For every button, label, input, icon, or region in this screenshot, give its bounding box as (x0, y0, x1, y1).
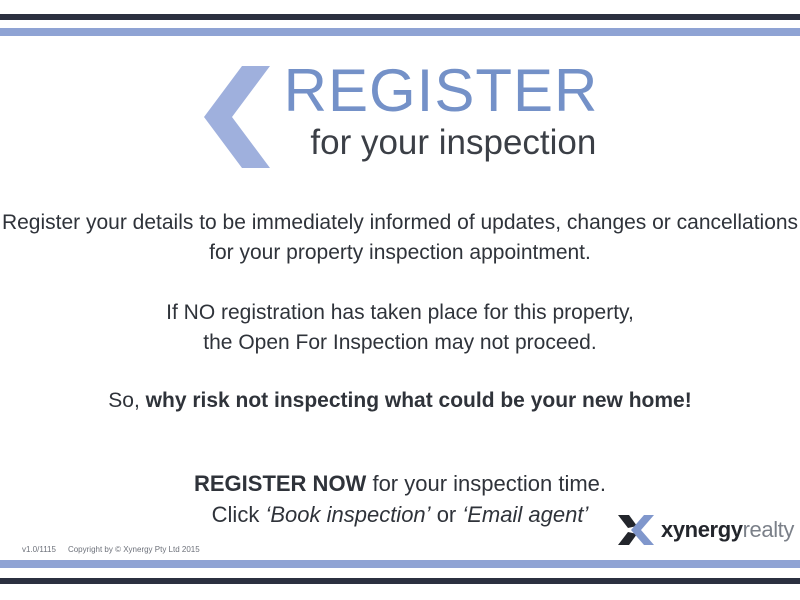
footer-legal-line: v1.0/1115Copyright by © Xynergy Pty Ltd … (22, 544, 200, 555)
prompt-emphasis: why risk not inspecting what could be yo… (146, 389, 692, 412)
body-copy: Register your details to be immediately … (0, 208, 800, 530)
cta-rest: for your inspection time. (372, 471, 606, 496)
page-subtitle: for your inspection (282, 122, 599, 164)
logo-suffix-text: realty (743, 517, 794, 542)
xynergy-x-mark-icon (616, 515, 656, 545)
warning-paragraph: If NO registration has taken place for t… (0, 298, 800, 358)
bottom-divider-blue (0, 560, 800, 568)
logo-brand-text: xynergy (661, 517, 743, 542)
header-text-block: REGISTER for your inspection (282, 60, 599, 164)
cta-click-prefix: Click (212, 502, 260, 527)
copyright-label: Copyright by © Xynergy Pty Ltd 2015 (68, 545, 200, 554)
intro-paragraph: Register your details to be immediately … (0, 208, 800, 268)
header-banner: REGISTER for your inspection (0, 60, 800, 168)
top-divider-blue (0, 28, 800, 36)
cta-emphasis: REGISTER NOW (194, 471, 366, 496)
warning-line-1: If NO registration has taken place for t… (166, 301, 634, 324)
chevron-left-icon (202, 66, 270, 168)
prompt-paragraph: So, why risk not inspecting what could b… (0, 386, 800, 416)
xynergy-realty-logo: xynergyrealty (616, 515, 794, 545)
warning-line-2: the Open For Inspection may not proceed. (203, 331, 596, 354)
cta-option-email-agent: ‘Email agent’ (462, 502, 588, 527)
bottom-divider-dark (0, 578, 800, 584)
logo-wordmark: xynergyrealty (661, 519, 794, 541)
version-label: v1.0/1115 (22, 545, 56, 554)
prompt-prefix: So, (108, 389, 140, 412)
cta-option-book-inspection: ‘Book inspection’ (265, 502, 430, 527)
page-title: REGISTER (282, 60, 599, 122)
top-divider-dark (0, 14, 800, 20)
cta-conjunction: or (437, 502, 457, 527)
